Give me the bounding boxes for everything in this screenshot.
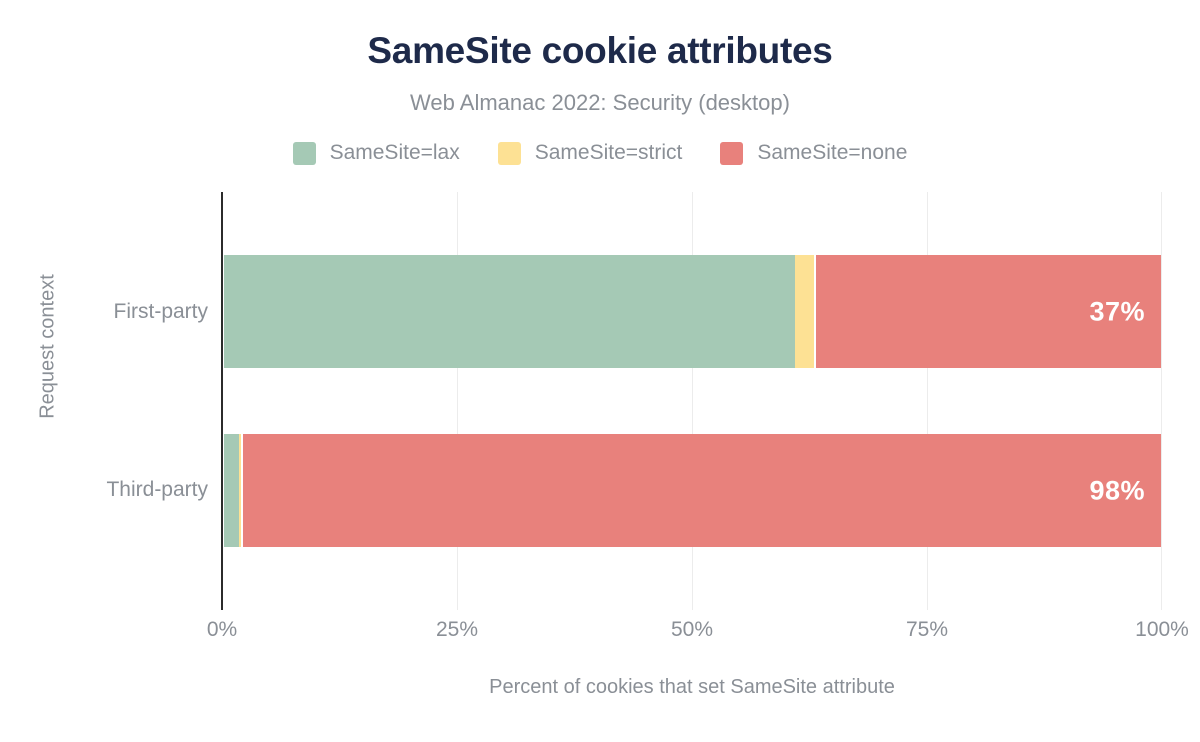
chart-title: SameSite cookie attributes xyxy=(0,30,1200,72)
x-tick-50: 50% xyxy=(671,618,713,642)
x-tick-0: 0% xyxy=(207,618,237,642)
bar-row-first-party: 37% xyxy=(222,255,1162,368)
legend-swatch-none-icon xyxy=(720,142,743,165)
y-axis-title: Request context xyxy=(37,247,60,447)
bar-value-third-party: 98% xyxy=(1089,475,1145,506)
legend-swatch-lax-icon xyxy=(293,142,316,165)
bar-segment-third-party-none[interactable]: 98% xyxy=(243,434,1161,547)
legend-label-strict: SameSite=strict xyxy=(535,141,683,165)
legend-item-strict[interactable]: SameSite=strict xyxy=(498,141,683,165)
y-tick-third-party: Third-party xyxy=(0,478,208,502)
x-axis-title: Percent of cookies that set SameSite att… xyxy=(222,676,1162,699)
plot-area: 37% 98% xyxy=(222,192,1162,610)
legend-label-lax: SameSite=lax xyxy=(330,141,460,165)
bar-segment-third-party-strict[interactable] xyxy=(239,434,241,547)
chart-legend: SameSite=lax SameSite=strict SameSite=no… xyxy=(0,141,1200,165)
legend-label-none: SameSite=none xyxy=(757,141,907,165)
bar-segment-first-party-strict[interactable] xyxy=(795,255,814,368)
bar-row-third-party: 98% xyxy=(222,434,1162,547)
legend-item-none[interactable]: SameSite=none xyxy=(720,141,907,165)
bar-segment-third-party-lax[interactable] xyxy=(224,434,239,547)
bar-value-first-party: 37% xyxy=(1089,296,1145,327)
chart-subtitle: Web Almanac 2022: Security (desktop) xyxy=(0,90,1200,116)
legend-swatch-strict-icon xyxy=(498,142,521,165)
x-tick-100: 100% xyxy=(1135,618,1189,642)
y-tick-first-party: First-party xyxy=(0,300,208,324)
bar-segment-first-party-none[interactable]: 37% xyxy=(816,255,1161,368)
bar-segment-first-party-lax[interactable] xyxy=(224,255,795,368)
chart-figure: SameSite cookie attributes Web Almanac 2… xyxy=(0,0,1200,742)
legend-item-lax[interactable]: SameSite=lax xyxy=(293,141,460,165)
x-tick-25: 25% xyxy=(436,618,478,642)
x-tick-75: 75% xyxy=(906,618,948,642)
